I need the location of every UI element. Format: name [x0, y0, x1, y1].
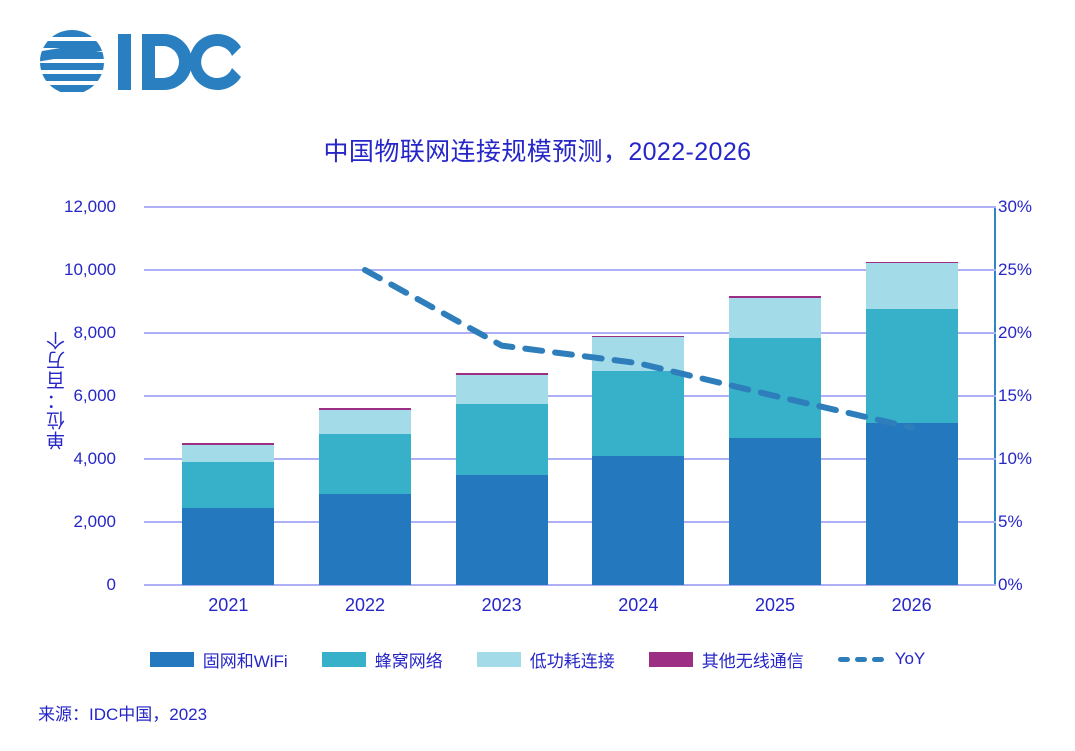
x-axis-ticks: 202120222023202420252026 [160, 595, 980, 625]
y-axis-right-tick-label: 15% [998, 386, 1032, 406]
bar-segment[interactable] [592, 371, 684, 457]
x-axis-tick-label: 2021 [168, 595, 288, 616]
bar-segment[interactable] [319, 494, 411, 585]
x-axis-tick-label: 2024 [578, 595, 698, 616]
legend-dash-icon [838, 652, 886, 667]
bar-group[interactable] [456, 373, 548, 585]
bar-segment[interactable] [456, 373, 548, 375]
bar-group[interactable] [866, 262, 958, 586]
bar-segment[interactable] [729, 298, 821, 338]
x-axis-tick-label: 2023 [442, 595, 562, 616]
y-axis-left-tick-label: 8,000 [0, 323, 130, 343]
legend-item[interactable]: 蜂窝网络 [322, 647, 443, 672]
bar-group[interactable] [319, 408, 411, 585]
bar-group[interactable] [592, 336, 684, 585]
legend-item-label: 固网和WiFi [203, 647, 288, 672]
legend-swatch-icon [477, 652, 521, 667]
chart-legend: 固网和WiFi蜂窝网络低功耗连接其他无线通信YoY [0, 642, 1075, 676]
y-axis-left-tick-label: 2,000 [0, 512, 130, 532]
bar-segment[interactable] [866, 309, 958, 423]
bar-segment[interactable] [319, 410, 411, 434]
bar-segment[interactable] [182, 508, 274, 585]
legend-item-label: 低功耗连接 [530, 647, 615, 672]
bar-segment[interactable] [182, 443, 274, 445]
source-note: 来源：IDC中国，2023 [38, 700, 207, 725]
bar-segment[interactable] [729, 296, 821, 298]
y-axis-left-tick-label: 10,000 [0, 260, 130, 280]
bar-segment[interactable] [182, 445, 274, 463]
legend-swatch-icon [150, 652, 194, 667]
legend-item-label: 蜂窝网络 [375, 647, 443, 672]
y-axis-right-tick-label: 0% [998, 575, 1023, 595]
bar-segment[interactable] [729, 338, 821, 438]
bar-segment[interactable] [866, 263, 958, 309]
bar-segment[interactable] [592, 337, 684, 370]
y-axis-right-ticks: 0%5%10%15%20%25%30% [998, 207, 1075, 585]
legend-item[interactable]: YoY [838, 649, 926, 669]
y-axis-left-tick-label: 12,000 [0, 197, 130, 217]
legend-swatch-icon [322, 652, 366, 667]
x-axis-tick-label: 2025 [715, 595, 835, 616]
y-axis-right-tick-label: 30% [998, 197, 1032, 217]
page-title: 中国物联网连接规模预测，2022-2026 [0, 132, 1075, 168]
legend-item[interactable]: 低功耗连接 [477, 647, 615, 672]
bar-group[interactable] [729, 296, 821, 585]
legend-item[interactable]: 固网和WiFi [150, 647, 288, 672]
x-axis-tick-label: 2026 [852, 595, 972, 616]
y-axis-left-ticks: 02,0004,0006,0008,00010,00012,000 [0, 207, 130, 585]
bar-segment[interactable] [456, 475, 548, 585]
y-axis-right-tick-label: 10% [998, 449, 1032, 469]
y-axis-left-tick-label: 0 [0, 575, 130, 595]
bar-segment[interactable] [182, 462, 274, 508]
bar-segment[interactable] [592, 336, 684, 338]
bar-segment[interactable] [319, 408, 411, 410]
gridline [144, 206, 996, 208]
bar-segment[interactable] [866, 262, 958, 264]
idc-logo [38, 28, 253, 96]
x-axis-tick-label: 2022 [305, 595, 425, 616]
chart-page: 中国物联网连接规模预测，2022-2026 单位：百万个 02,0004,000… [0, 0, 1075, 751]
legend-item-label: YoY [895, 649, 926, 669]
legend-swatch-icon [649, 652, 693, 667]
y-axis-right-tick-label: 25% [998, 260, 1032, 280]
bar-segment[interactable] [866, 423, 958, 585]
bar-segment[interactable] [729, 438, 821, 585]
legend-item[interactable]: 其他无线通信 [649, 647, 804, 672]
bar-segment[interactable] [592, 456, 684, 585]
y-axis-right-tick-label: 5% [998, 512, 1023, 532]
y-axis-left-tick-label: 6,000 [0, 386, 130, 406]
bar-group[interactable] [182, 443, 274, 585]
idc-logo-icon [38, 28, 253, 96]
bar-segment[interactable] [456, 404, 548, 475]
y-axis-left-tick-label: 4,000 [0, 449, 130, 469]
plot-area [160, 207, 980, 585]
bar-segment[interactable] [456, 375, 548, 404]
legend-item-label: 其他无线通信 [702, 647, 804, 672]
bar-segment[interactable] [319, 434, 411, 494]
y-axis-right-tick-label: 20% [998, 323, 1032, 343]
